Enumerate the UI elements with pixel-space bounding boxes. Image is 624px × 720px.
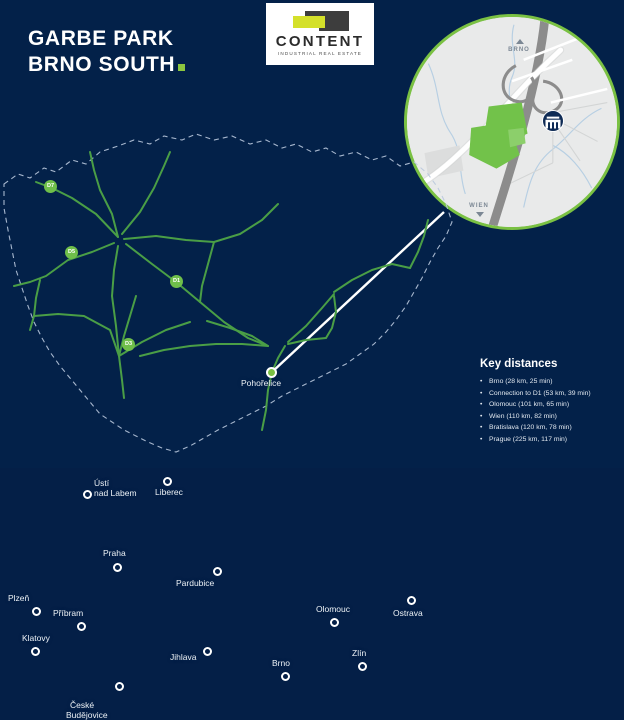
city-dot bbox=[163, 477, 172, 486]
list-item: Prague (225 km, 117 min) bbox=[480, 434, 622, 446]
logo-bar-lime bbox=[293, 16, 325, 28]
highway-badge-d3[interactable]: D3 bbox=[122, 338, 135, 351]
city-label: Zlín bbox=[352, 648, 366, 658]
city-dot bbox=[32, 607, 41, 616]
city-label: Olomouc bbox=[316, 604, 350, 614]
logo-wordmark: CONTENT bbox=[276, 34, 365, 49]
city-label: Klatovy bbox=[22, 633, 50, 643]
city-dot bbox=[330, 618, 339, 627]
city-label: Plzeň bbox=[8, 593, 29, 603]
city-label-line2: Budějovice bbox=[66, 710, 108, 720]
city-label: Příbram bbox=[53, 608, 83, 618]
city-dot bbox=[113, 563, 122, 572]
highway-badge-d1[interactable]: D1 bbox=[170, 275, 183, 288]
city-dot bbox=[281, 672, 290, 681]
list-item: Bratislava (120 km, 78 min) bbox=[480, 422, 622, 434]
page-title: GARBE PARK BRNO SOUTH bbox=[28, 26, 185, 78]
key-distances-title: Key distances bbox=[480, 358, 622, 370]
poster-canvas: GARBE PARK BRNO SOUTH CONTENT INDUSTRIAL… bbox=[0, 0, 624, 468]
city-dot bbox=[358, 662, 367, 671]
factory-icon[interactable] bbox=[542, 110, 564, 132]
czech-republic-map[interactable]: Ústí nad Labem Liberec Praha Pardubice P… bbox=[0, 130, 470, 460]
title-accent-dot bbox=[178, 64, 185, 71]
inset-arrow-north-icon bbox=[516, 39, 524, 44]
city-label: České bbox=[70, 700, 94, 710]
city-label: Jihlava bbox=[170, 652, 196, 662]
list-item: Olomouc (101 km, 65 min) bbox=[480, 399, 622, 411]
highway-badge-d7[interactable]: D7 bbox=[44, 180, 57, 193]
city-label-line2: nad Labem bbox=[94, 488, 137, 498]
city-label: Liberec bbox=[155, 487, 183, 497]
city-label: Ostrava bbox=[393, 608, 423, 618]
logo-mark-icon bbox=[291, 11, 349, 31]
factory-glyph bbox=[543, 111, 563, 131]
city-dot bbox=[115, 682, 124, 691]
inset-arrow-south-icon bbox=[476, 212, 484, 217]
city-label: Ústí bbox=[94, 478, 109, 488]
title-line-1: GARBE PARK bbox=[28, 26, 185, 52]
title-line-2: BRNO SOUTH bbox=[28, 52, 185, 78]
highway-badge-d5[interactable]: D5 bbox=[65, 246, 78, 259]
title-line-2-text: BRNO SOUTH bbox=[28, 53, 175, 76]
city-dot bbox=[407, 596, 416, 605]
city-dot bbox=[77, 622, 86, 631]
city-dot bbox=[31, 647, 40, 656]
list-item: Brno (28 km, 25 min) bbox=[480, 376, 622, 388]
city-label: Praha bbox=[103, 548, 126, 558]
city-label: Pardubice bbox=[176, 578, 214, 588]
inset-label-brno: BRNO bbox=[499, 47, 539, 53]
list-item: Wien (110 km, 82 min) bbox=[480, 411, 622, 423]
city-dot bbox=[213, 567, 222, 576]
city-dot bbox=[83, 490, 92, 499]
site-marker-pohorelice[interactable] bbox=[266, 367, 277, 378]
cz-map-graphic bbox=[0, 130, 470, 460]
key-distances-list: Brno (28 km, 25 min) Connection to D1 (5… bbox=[480, 376, 622, 445]
content-logo: CONTENT INDUSTRIAL REAL ESTATE bbox=[266, 3, 374, 65]
list-item: Connection to D1 (53 km, 39 min) bbox=[480, 388, 622, 400]
logo-tagline: INDUSTRIAL REAL ESTATE bbox=[278, 51, 362, 57]
city-dot bbox=[203, 647, 212, 656]
site-label-pohorelice: Pohořelice bbox=[241, 378, 281, 388]
key-distances-panel: Key distances Brno (28 km, 25 min) Conne… bbox=[480, 358, 622, 445]
city-label: Brno bbox=[272, 658, 290, 668]
